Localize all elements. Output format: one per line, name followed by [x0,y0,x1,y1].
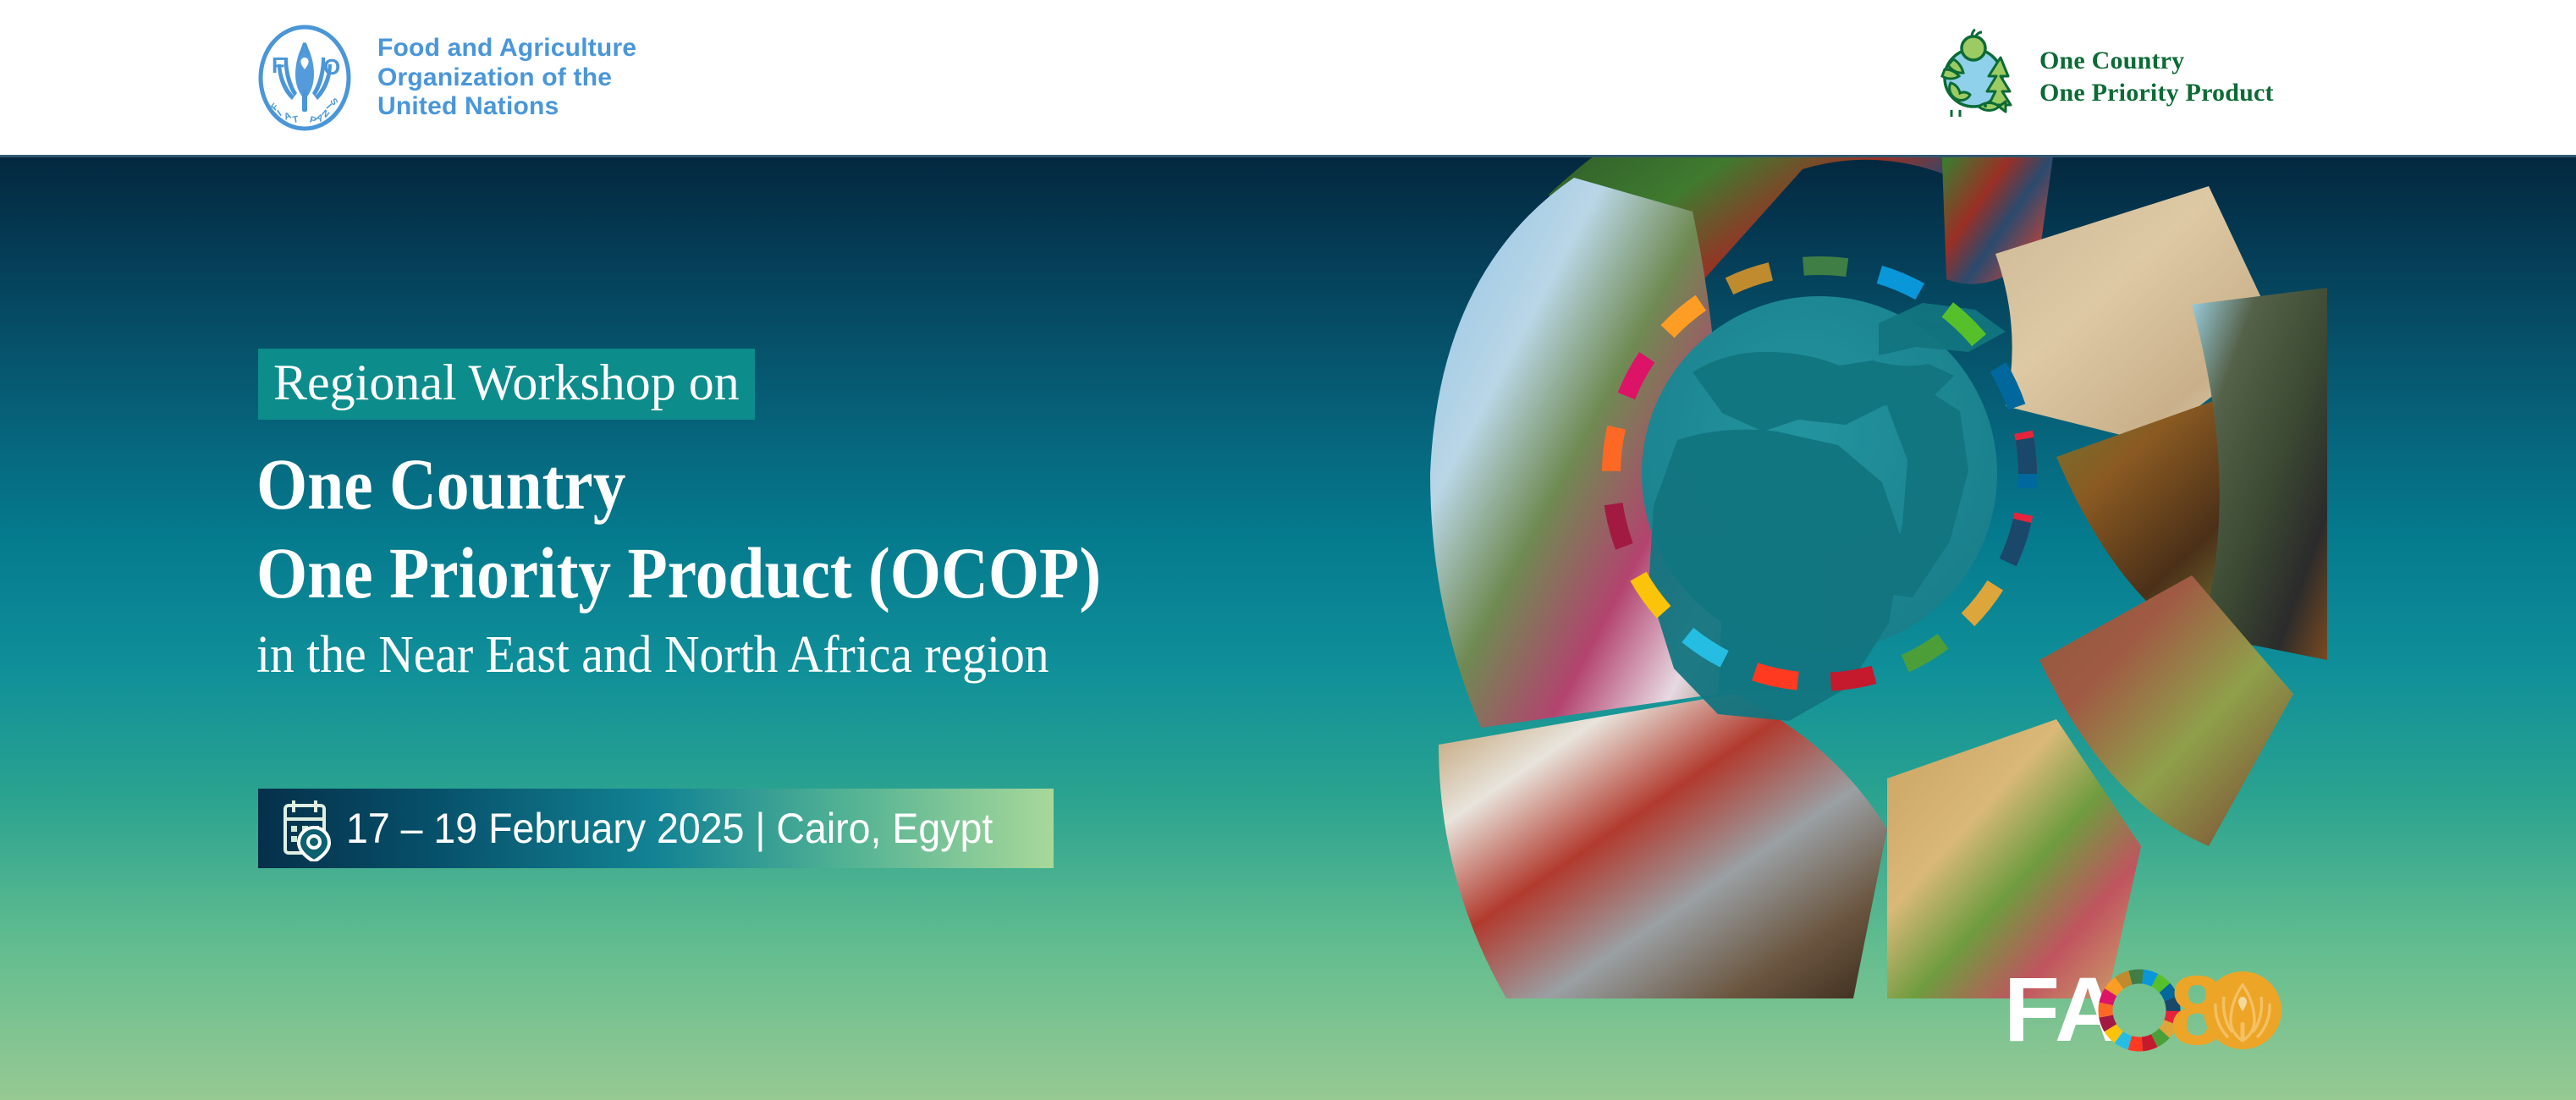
date-location-bar: 17 – 19 February 2025 | Cairo, Egypt [258,789,1054,868]
kicker-badge: Regional Workshop on [258,349,755,420]
carob-sorting-photo [1439,694,1887,998]
svg-text:A: A [298,39,311,60]
banner-page: F O A F I A T P A N I S [0,0,2576,1100]
fao-text-line2: Organization of the [377,63,612,91]
globe-map-icon [1611,266,2028,721]
ocop-globe-icon [1923,25,2024,129]
page-title: One Country One Priority Product (OCOP) [256,440,1101,618]
page-subtitle: in the Near East and North Africa region [256,626,1049,684]
ocop-text-line2: One Priority Product [2039,79,2274,107]
fao-logo-text: Food and Agriculture Organization of the… [377,34,636,122]
kicker-text: Regional Workshop on [273,357,740,408]
fao-80-anniversary-logo: FA [2004,963,2283,1058]
calendar-location-pin-icon [277,795,339,861]
svg-text:F: F [272,52,285,78]
fao-logo: F O A F I A T P A N I S [250,24,636,132]
ocop-text-line1: One Country [2039,47,2184,74]
date-location-text: 17 – 19 February 2025 | Cairo, Egypt [346,804,993,853]
svg-text:T: T [292,114,300,125]
fao-wheat-circle-icon [2204,971,2282,1049]
svg-text:O: O [323,54,340,80]
ocop-logo: One Country One Priority Product [1923,25,2274,129]
fao-text-line3: United Nations [377,92,559,120]
headline-line-1: One Country [256,440,1101,529]
fao-wheat-emblem-icon: F O A F I A T P A N I S [250,24,359,132]
headline-line-2: One Priority Product (OCOP) [256,529,1101,618]
ocop-logo-text: One Country One Priority Product [2039,45,2274,110]
fao-text-line1: Food and Agriculture [377,34,636,62]
page-header: F O A F I A T P A N I S [0,0,2576,157]
